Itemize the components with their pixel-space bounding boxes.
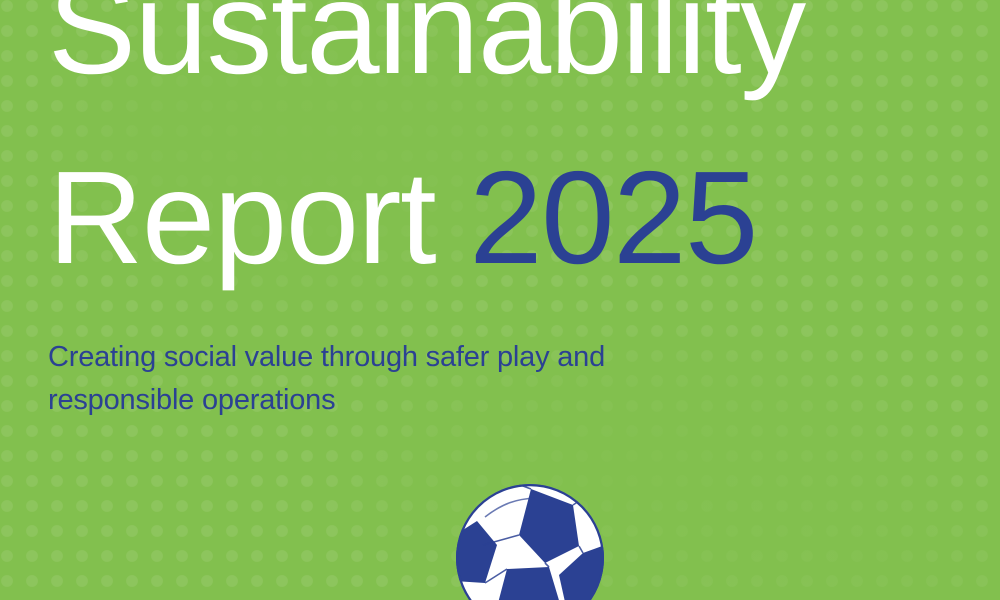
page-subtitle: Creating social value through safer play… (48, 336, 728, 422)
soccer-ball-icon (455, 483, 605, 600)
page-title-year: 2025 (469, 144, 757, 291)
report-cover-page: Sustainability Report2025 Creating socia… (0, 0, 1000, 600)
page-title-line-1: Sustainability (48, 0, 805, 94)
page-title-word-report: Report (48, 144, 435, 291)
page-title-line-2: Report2025 (48, 152, 757, 284)
